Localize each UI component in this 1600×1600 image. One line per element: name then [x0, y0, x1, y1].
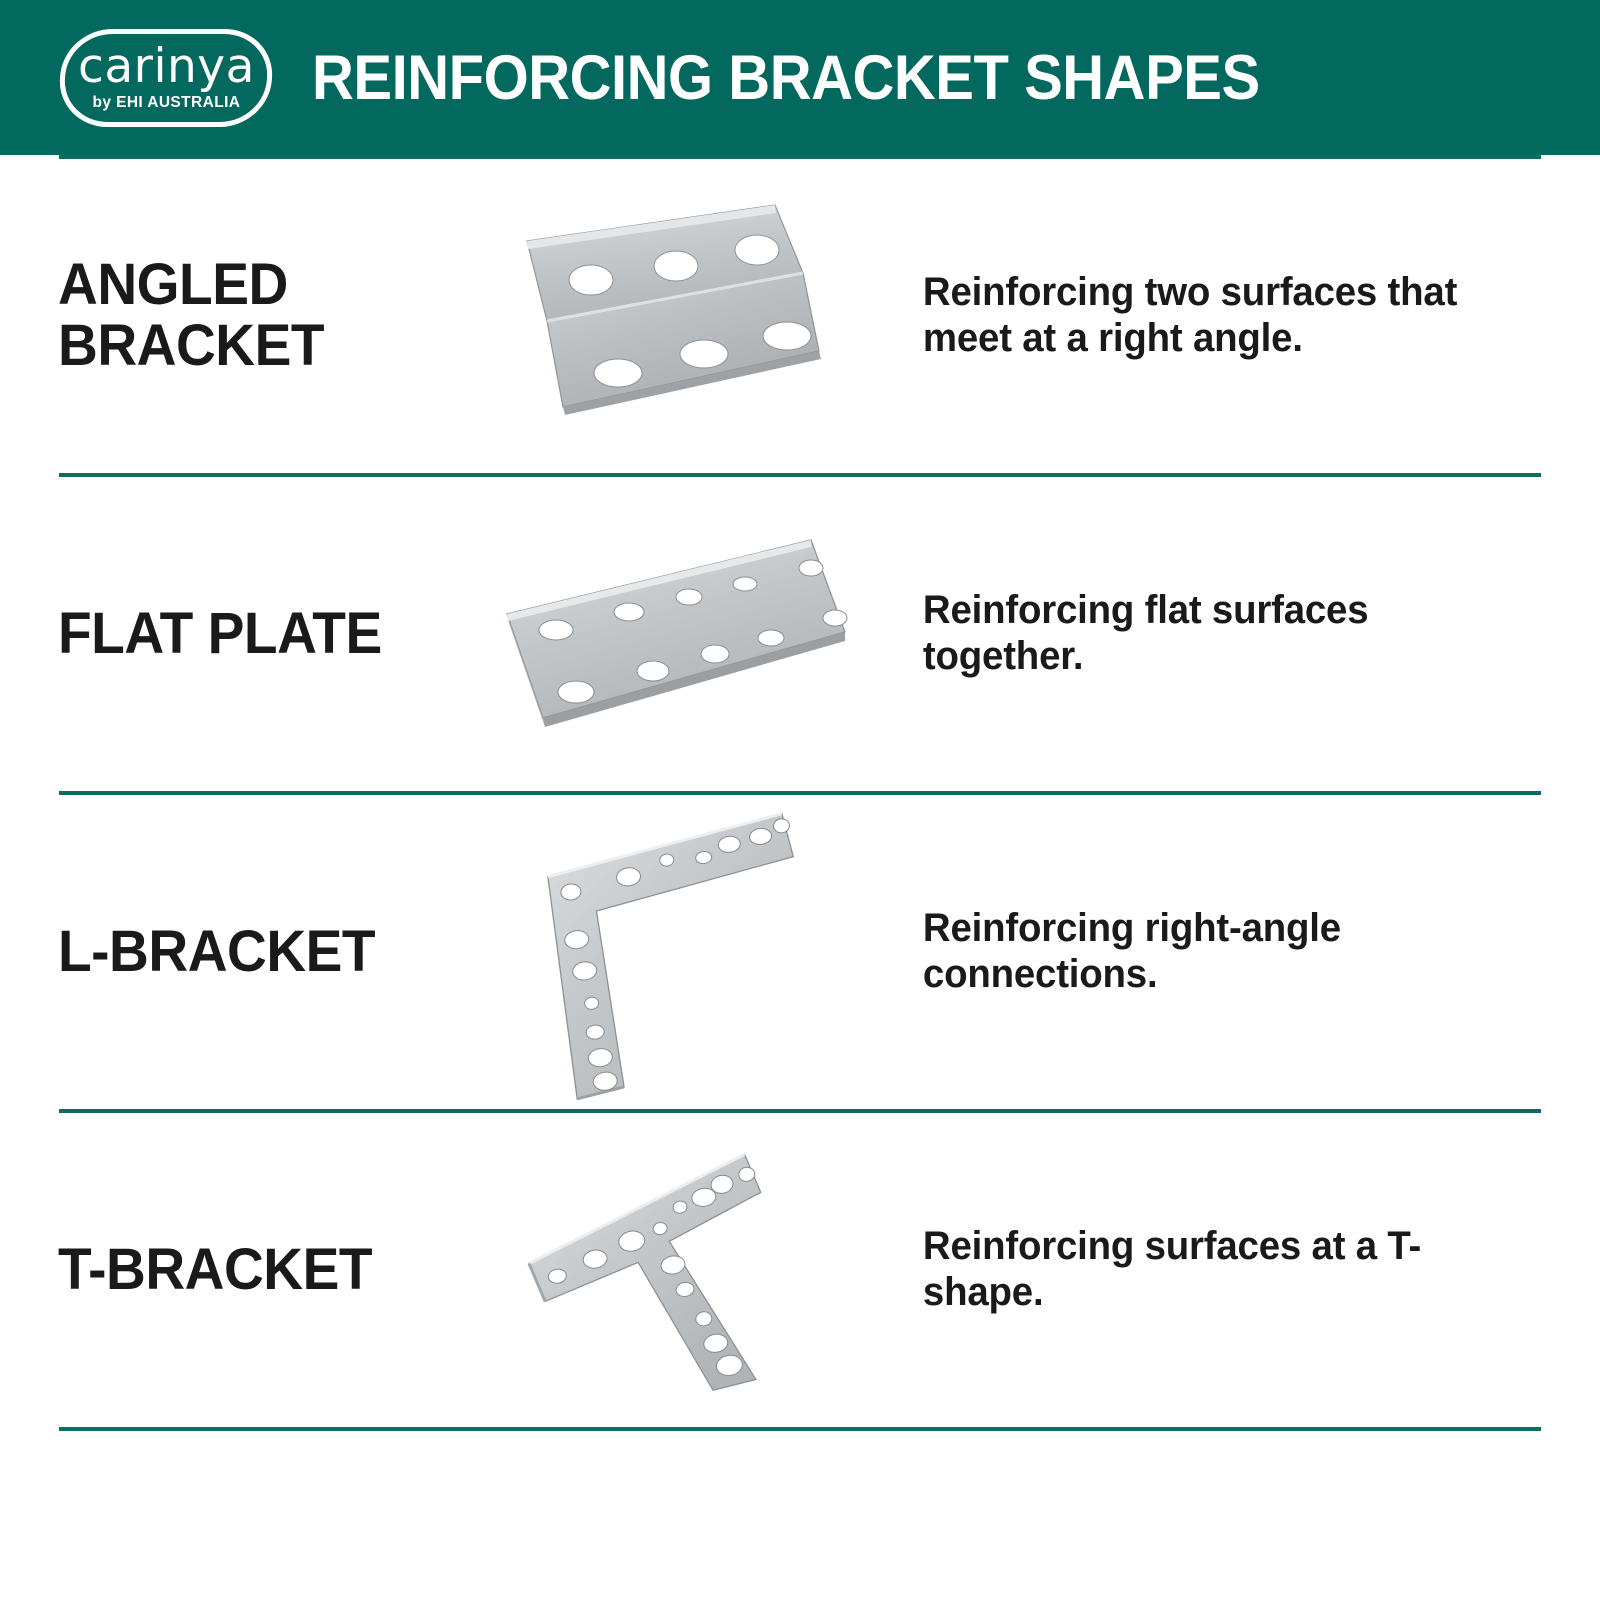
- row-l-bracket: L-BRACKET: [0, 795, 1600, 1109]
- row-label-line-1: T-BRACKET: [58, 1240, 452, 1301]
- page-title: REINFORCING BRACKET SHAPES: [312, 42, 1260, 114]
- row-description-l-bracket: Reinforcing right-angle connections.: [873, 906, 1515, 997]
- angled-bracket-photo: [473, 186, 873, 446]
- row-t-bracket: T-BRACKET: [0, 1113, 1600, 1427]
- logo-wordmark: carinya: [78, 44, 255, 89]
- row-description-flat-plate: Reinforcing flat surfaces together.: [873, 588, 1515, 679]
- page-header: carinya by EHI AUSTRALIA REINFORCING BRA…: [0, 0, 1600, 155]
- row-label-line-1: ANGLED: [58, 255, 452, 316]
- rows-container: ANGLED BRACKET: [0, 155, 1600, 1431]
- t-bracket-icon: [513, 1145, 833, 1395]
- row-flat-plate: FLAT PLATE: [0, 477, 1600, 791]
- infographic-page: carinya by EHI AUSTRALIA REINFORCING BRA…: [0, 0, 1600, 1600]
- logo-tagline: by EHI AUSTRALIA: [78, 93, 255, 111]
- row-label-angled-bracket: ANGLED BRACKET: [58, 255, 452, 377]
- row-description-t-bracket: Reinforcing surfaces at a T-shape.: [873, 1224, 1515, 1315]
- l-bracket-photo: [473, 822, 873, 1082]
- row-description-angled-bracket: Reinforcing two surfaces that meet at a …: [873, 270, 1515, 361]
- flat-plate-icon: [493, 524, 853, 744]
- row-label-t-bracket: T-BRACKET: [58, 1240, 452, 1301]
- l-bracket-icon: [528, 810, 818, 1095]
- row-label-line-1: FLAT PLATE: [58, 604, 452, 665]
- row-label-line-2: BRACKET: [58, 316, 452, 377]
- flat-plate-photo: [473, 504, 873, 764]
- row-label-line-1: L-BRACKET: [58, 922, 452, 983]
- divider-bottom: [59, 1427, 1541, 1431]
- t-bracket-photo: [473, 1140, 873, 1400]
- row-angled-bracket: ANGLED BRACKET: [0, 159, 1600, 473]
- row-label-l-bracket: L-BRACKET: [58, 922, 452, 983]
- carinya-logo: carinya by EHI AUSTRALIA: [57, 29, 274, 127]
- angled-bracket-icon: [503, 201, 843, 431]
- row-label-flat-plate: FLAT PLATE: [58, 604, 452, 665]
